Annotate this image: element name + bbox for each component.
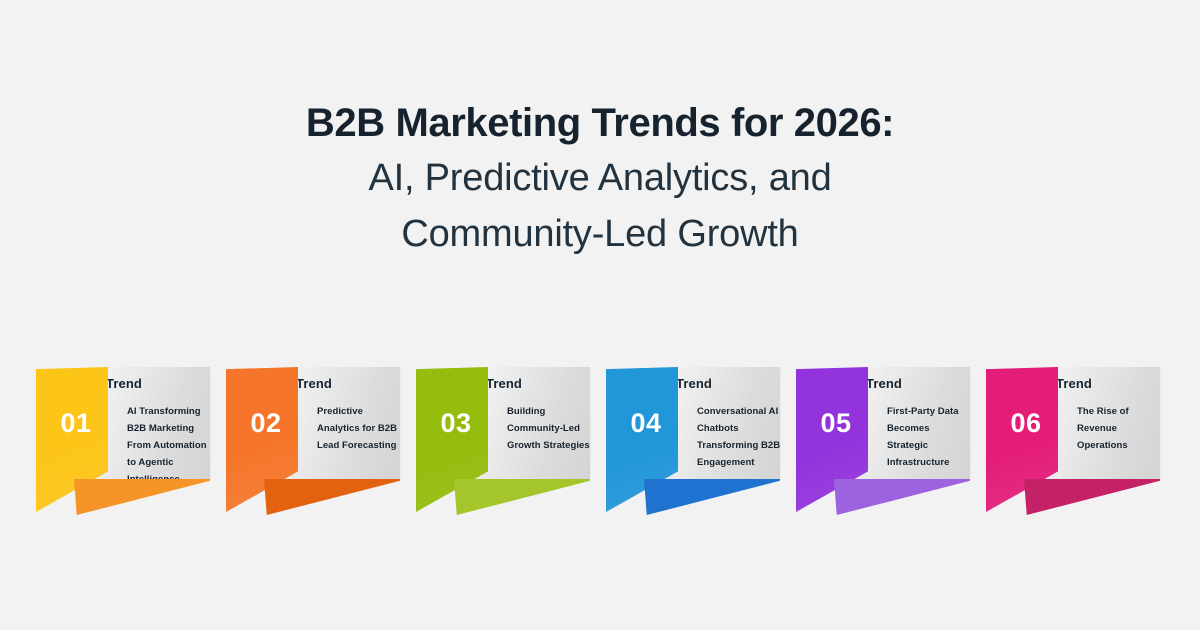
trend-card-label: Trend (1056, 376, 1092, 391)
trend-cards-row: TrendAI Transforming B2B Marketing From … (36, 367, 1176, 527)
trend-card-number: 02 (226, 367, 298, 479)
trend-card[interactable]: TrendThe Rise of Revenue Operations06 (986, 367, 1160, 479)
trend-card-number: 05 (796, 367, 868, 479)
trend-card[interactable]: TrendFirst-Party Data Becomes Strategic … (796, 367, 970, 479)
trend-card-shadow (264, 479, 400, 515)
trend-card-label: Trend (486, 376, 522, 391)
trend-card-label: Trend (866, 376, 902, 391)
page-title: B2B Marketing Trends for 2026: AI, Predi… (0, 96, 1200, 262)
trend-card-shadow (834, 479, 970, 515)
trend-card-label: Trend (106, 376, 142, 391)
trend-card-shadow (454, 479, 590, 515)
page-title-line-1: B2B Marketing Trends for 2026: (0, 96, 1200, 150)
trend-card[interactable]: TrendConversational AI Chatbots Transfor… (606, 367, 780, 479)
trend-card-label: Trend (296, 376, 332, 391)
trend-card-number: 06 (986, 367, 1058, 479)
trend-card-description: Building Community-Led Growth Strategies (507, 403, 590, 454)
page-title-line-3: Community-Led Growth (0, 206, 1200, 262)
trend-card-shadow (644, 479, 780, 515)
trend-card-number: 03 (416, 367, 488, 479)
trend-card-label: Trend (676, 376, 712, 391)
trend-card-number: 01 (36, 367, 108, 479)
trend-card[interactable]: TrendAI Transforming B2B Marketing From … (36, 367, 210, 479)
trend-card-description: The Rise of Revenue Operations (1077, 403, 1160, 454)
trend-card-shadow (74, 479, 210, 515)
trend-card-description: Conversational AI Chatbots Transforming … (697, 403, 780, 471)
trend-card-description: First-Party Data Becomes Strategic Infra… (887, 403, 970, 471)
trend-card[interactable]: TrendBuilding Community-Led Growth Strat… (416, 367, 590, 479)
trend-card-shadow (1024, 479, 1160, 515)
page-title-line-2: AI, Predictive Analytics, and (0, 150, 1200, 206)
trend-card[interactable]: TrendPredictive Analytics for B2B Lead F… (226, 367, 400, 479)
trend-card-description: Predictive Analytics for B2B Lead Foreca… (317, 403, 400, 454)
trend-card-description: AI Transforming B2B Marketing From Autom… (127, 403, 210, 479)
trend-card-number: 04 (606, 367, 678, 479)
